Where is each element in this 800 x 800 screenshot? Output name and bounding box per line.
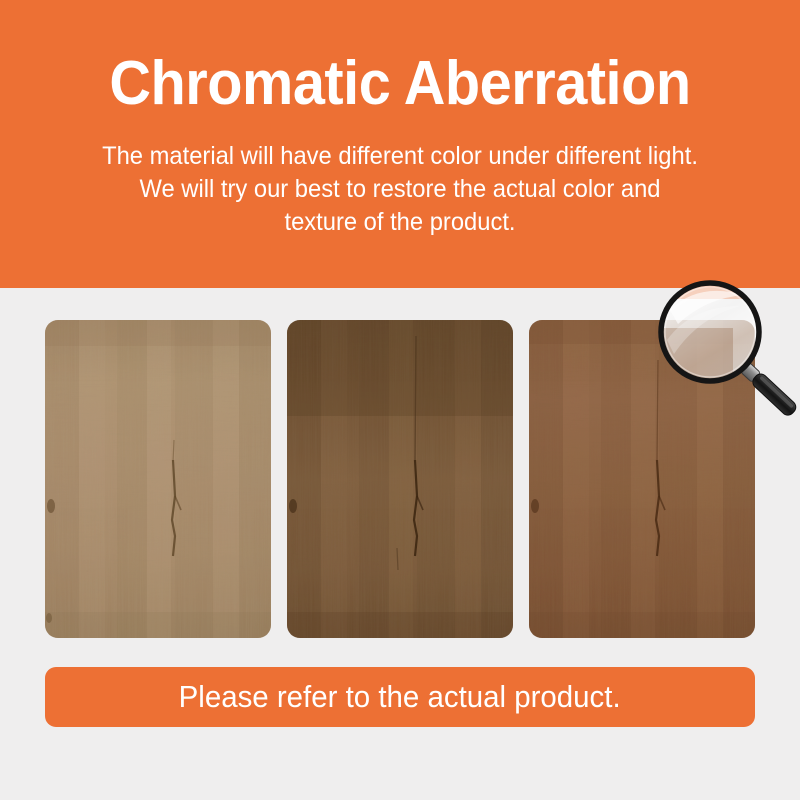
warm-mahogany-swatch[interactable] bbox=[529, 320, 755, 638]
subtitle-line-1: The material will have different color u… bbox=[77, 140, 723, 173]
medium-walnut-texture bbox=[287, 320, 513, 638]
subtitle-line-3: texture of the product. bbox=[77, 206, 723, 239]
footer-callout-text: Please refer to the actual product. bbox=[179, 680, 621, 714]
page-title: Chromatic Aberration bbox=[28, 48, 772, 120]
light-oak-texture bbox=[45, 320, 271, 638]
header-subtitle: The material will have different color u… bbox=[77, 140, 723, 239]
light-oak-swatch[interactable] bbox=[45, 320, 271, 638]
warm-mahogany-texture bbox=[529, 320, 755, 638]
header-banner: Chromatic Aberration The material will h… bbox=[0, 0, 800, 288]
wood-swatch-row bbox=[45, 320, 755, 638]
chromatic-aberration-infographic: Chromatic Aberration The material will h… bbox=[0, 0, 800, 800]
subtitle-line-2: We will try our best to restore the actu… bbox=[77, 173, 723, 206]
footer-callout-banner: Please refer to the actual product. bbox=[45, 667, 755, 727]
medium-walnut-swatch[interactable] bbox=[287, 320, 513, 638]
